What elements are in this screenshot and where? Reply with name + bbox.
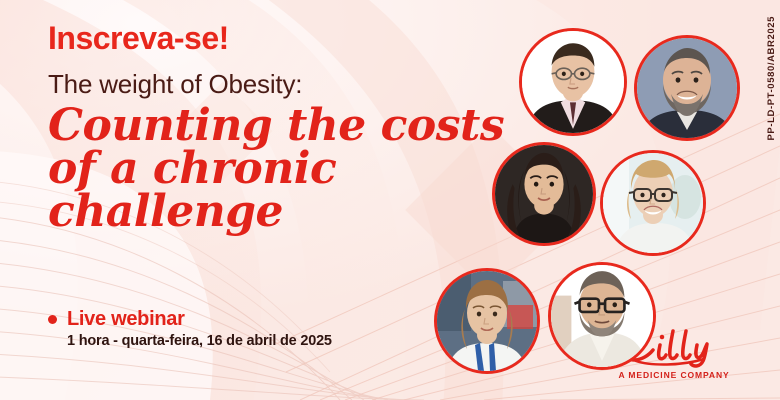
headline-text: Counting the costs of a chronic challeng… — [48, 104, 518, 233]
copy-block: Inscreva-se! The weight of Obesity: Coun… — [48, 22, 518, 234]
speaker-photo-4 — [603, 153, 703, 253]
webinar-date: 1 hora - quarta-feira, 16 de abril de 20… — [67, 333, 468, 349]
headline-line-2: of a chronic — [48, 147, 518, 190]
regulatory-code: PP-LD-PT-0580/ABR2025 — [766, 16, 777, 141]
speaker-avatar-4 — [600, 150, 706, 256]
speaker-avatar-1 — [519, 28, 627, 136]
speaker-photo-1 — [522, 31, 624, 133]
webinar-title-row: Live webinar — [48, 308, 468, 331]
headline-line-1: Counting the costs — [48, 104, 518, 147]
speaker-photo-6 — [551, 265, 653, 367]
bullet-dot-icon — [48, 315, 57, 324]
headline-line-3: challenge — [48, 190, 518, 233]
kicker-text: Inscreva-se! — [48, 22, 518, 56]
speaker-avatar-3 — [492, 142, 596, 246]
speaker-avatar-5 — [434, 268, 540, 374]
speaker-avatar-6 — [548, 262, 656, 370]
speaker-photo-2 — [637, 38, 737, 138]
subtitle-text: The weight of Obesity: — [48, 70, 518, 99]
speaker-photo-5 — [437, 271, 537, 371]
speaker-photo-3 — [495, 145, 593, 243]
speaker-avatar-2 — [634, 35, 740, 141]
webinar-info: Live webinar 1 hora - quarta-feira, 16 d… — [48, 308, 468, 349]
webinar-banner: Inscreva-se! The weight of Obesity: Coun… — [0, 0, 780, 400]
lilly-tagline: A MEDICINE COMPANY — [604, 370, 744, 380]
webinar-title: Live webinar — [67, 308, 185, 331]
